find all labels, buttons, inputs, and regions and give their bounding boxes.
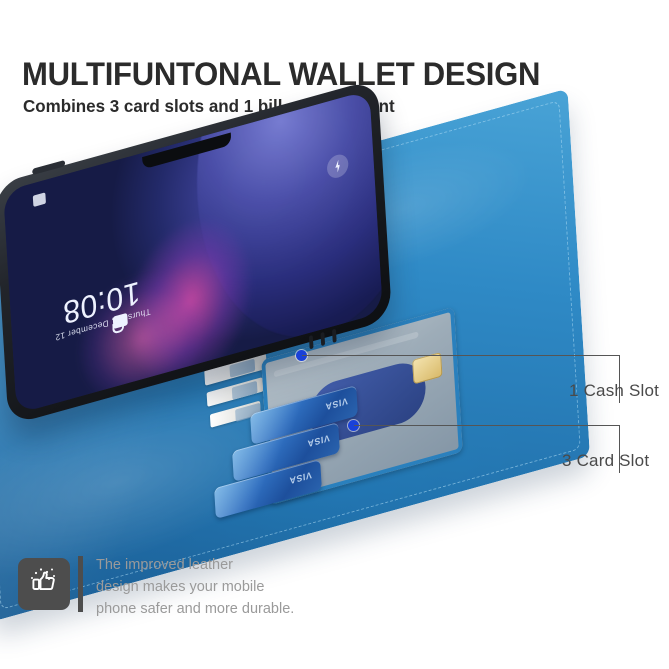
footer: The improved leather design makes your m… — [0, 548, 669, 638]
product-marketing-image: MULTIFUNTONAL WALLET DESIGN Combines 3 c… — [0, 0, 669, 669]
callout-label-cash-slot: 1 Cash Slot — [569, 381, 659, 401]
footer-text: The improved leather design makes your m… — [96, 554, 294, 620]
thumbs-up-icon — [18, 558, 70, 610]
footer-line: design makes your mobile — [96, 576, 294, 598]
side-button-icon — [32, 160, 65, 175]
card-slot-label: VISA — [306, 433, 329, 449]
callout-leader-cash-slot — [302, 355, 620, 356]
camera-icon — [33, 192, 46, 207]
callout-label-card-slot: 3 Card Slot — [562, 451, 649, 471]
product-photo: 1234 5678 VISA VISA VISA — [0, 140, 669, 540]
card-chip-icon — [412, 352, 442, 385]
footer-line: The improved leather — [96, 554, 294, 576]
card-slot-label: VISA — [324, 396, 347, 412]
footer-line: phone safer and more durable. — [96, 598, 294, 620]
callout-leader-card-slot — [354, 425, 620, 426]
page-title: MULTIFUNTONAL WALLET DESIGN — [22, 56, 540, 93]
wallpaper-streaks — [50, 169, 272, 393]
card-slot-label: VISA — [288, 470, 311, 486]
footer-divider — [78, 556, 83, 612]
